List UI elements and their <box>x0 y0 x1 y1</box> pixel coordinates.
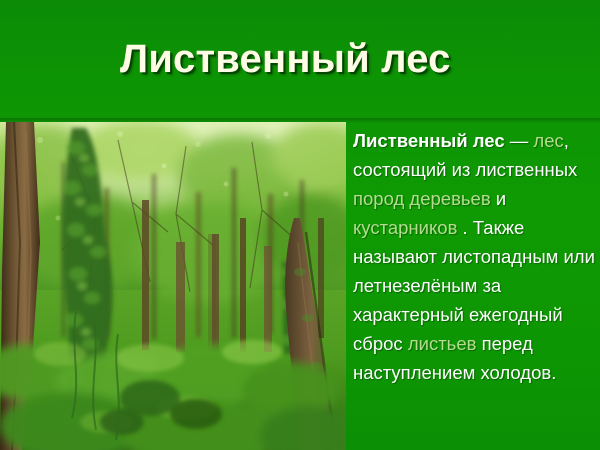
body-run-10[interactable]: листьев <box>408 333 477 354</box>
body-run-1: — <box>505 130 534 151</box>
forest-photo-illustration <box>0 122 346 450</box>
body-run-7: и <box>491 188 506 209</box>
body-run-2[interactable]: лес <box>533 130 563 151</box>
title-bar: Лиственный лес <box>0 0 600 110</box>
page-title: Лиственный лес <box>120 37 451 82</box>
body-run-6[interactable]: деревьев <box>409 188 490 209</box>
forest-photo <box>0 122 346 450</box>
body-paragraph: Лиственный лес — лес, состоящий из листв… <box>353 126 597 387</box>
slide-canvas: Лиственный лес <box>0 0 600 450</box>
body-run-0: Лиственный лес <box>353 130 505 151</box>
body-run-8[interactable]: кустарников <box>353 217 457 238</box>
body-run-4[interactable]: пород <box>353 188 404 209</box>
